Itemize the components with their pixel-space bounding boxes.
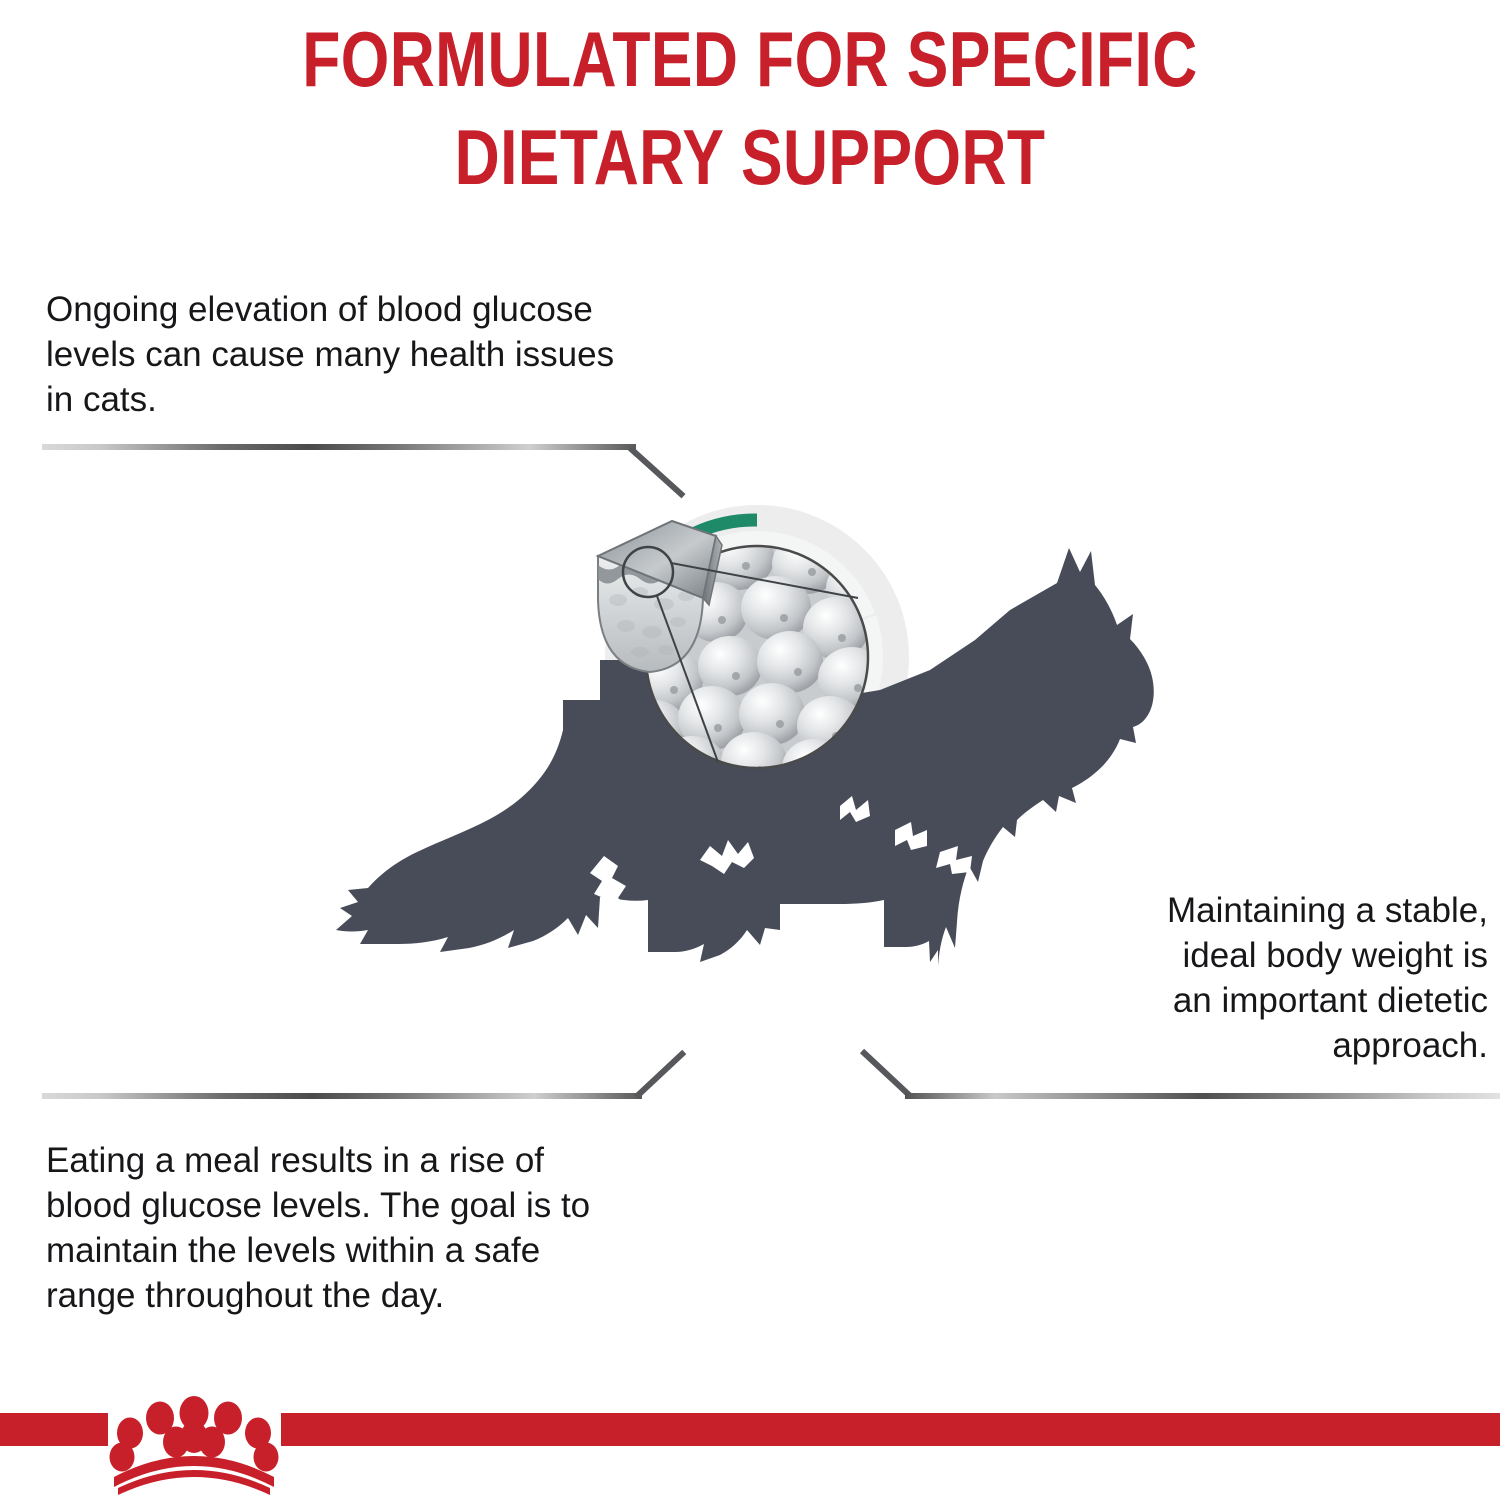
cat-silhouette	[336, 548, 1154, 966]
callout-bottom-left: Eating a meal results in a rise of blood…	[46, 1138, 726, 1318]
page-title-line-1: FORMULATED FOR SPECIFIC	[150, 10, 1350, 108]
page-title-line-2: DIETARY SUPPORT	[150, 108, 1350, 206]
callout-right: Maintaining a stable, ideal body weight …	[1068, 888, 1488, 1068]
callout-bottom-left-line-4: range throughout the day.	[46, 1273, 726, 1318]
page-title: FORMULATED FOR SPECIFIC DIETARY SUPPORT	[150, 10, 1350, 206]
callout-right-line-3: an important dietetic	[1068, 978, 1488, 1023]
infographic-page: FORMULATED FOR SPECIFIC DIETARY SUPPORT	[0, 0, 1500, 1500]
callout-right-line-4: approach.	[1068, 1023, 1488, 1068]
callout-bottom-left-line-3: maintain the levels within a safe	[46, 1228, 726, 1273]
callout-right-line-2: ideal body weight is	[1068, 933, 1488, 978]
magnifier-inner-ring	[631, 531, 883, 783]
brand-footer	[0, 1395, 1500, 1500]
magnifier-circle-border	[646, 546, 868, 768]
footer-bar-left	[0, 1413, 108, 1446]
kibble-granules	[621, 526, 890, 797]
callout-bottom-left-line-2: blood glucose levels. The goal is to	[46, 1183, 726, 1228]
kibble-detail-circle	[623, 547, 673, 597]
magnifier-halo	[605, 505, 909, 809]
callout-top-left: Ongoing elevation of blood glucose level…	[46, 287, 746, 422]
green-ring-icon	[651, 520, 884, 793]
callout-bottom-left-line-1: Eating a meal results in a rise of	[46, 1138, 726, 1183]
crown-paw-logo-icon	[104, 1395, 284, 1495]
callout-top-left-line-3: in cats.	[46, 377, 746, 422]
kibble-cross-section	[598, 521, 858, 762]
magnifier-overlay	[757, 505, 900, 657]
callout-right-line-1: Maintaining a stable,	[1068, 888, 1488, 933]
callout-top-left-line-2: levels can cause many health issues	[46, 332, 746, 377]
footer-bar-right	[281, 1413, 1500, 1446]
callout-top-left-line-1: Ongoing elevation of blood glucose	[46, 287, 746, 332]
